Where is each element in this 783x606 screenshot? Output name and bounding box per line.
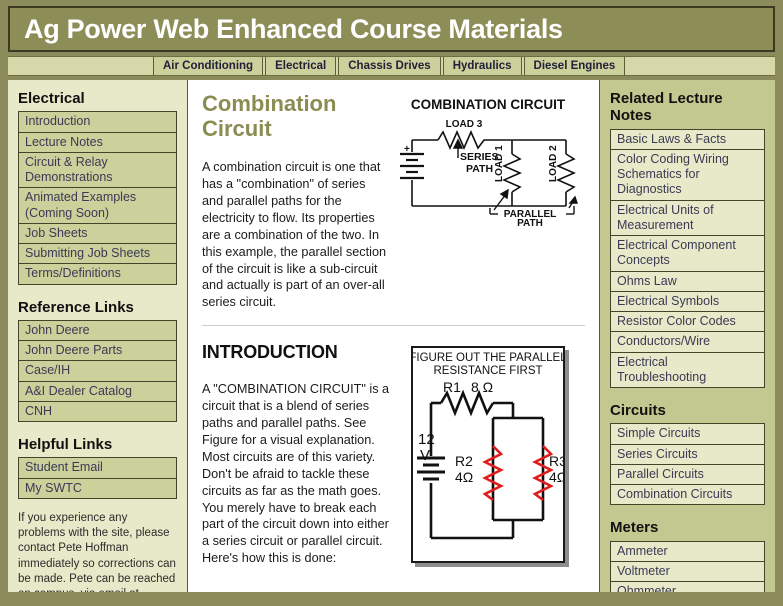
right-link-list-lecture-notes: Basic Laws & Facts Color Coding Wiring S… [610, 129, 765, 389]
sidebar-item-electrical-troubleshooting[interactable]: Electrical Troubleshooting [611, 353, 764, 388]
sidebar-item-cnh[interactable]: CNH [19, 402, 176, 421]
left-link-list-reference: John Deere John Deere Parts Case/IH A&I … [18, 320, 177, 422]
sidebar-item-introduction[interactable]: Introduction [19, 112, 176, 132]
figure2-source-line2: V [420, 447, 430, 464]
sidebar-item-combination-circuits[interactable]: Combination Circuits [611, 485, 764, 504]
nav-tab-chassis-drives[interactable]: Chassis Drives [338, 57, 440, 75]
page-columns: Electrical Introduction Lecture Notes Ci… [8, 80, 775, 592]
sidebar-item-simple-circuits[interactable]: Simple Circuits [611, 424, 764, 444]
combination-circuit-text: Combination Circuit A combination circui… [202, 90, 390, 311]
right-section-heading-related-lecture-notes: Related Lecture Notes [610, 90, 765, 125]
sidebar-item-basic-laws-facts[interactable]: Basic Laws & Facts [611, 130, 764, 150]
sidebar-item-resistor-color-codes[interactable]: Resistor Color Codes [611, 312, 764, 332]
nav-tab-diesel-engines[interactable]: Diesel Engines [524, 57, 626, 75]
figure1-battery-positive: + [404, 144, 410, 155]
main-navigation: Air Conditioning Electrical Chassis Driv… [8, 56, 775, 76]
figure1-label-load2: LOAD 2 [548, 145, 559, 182]
sidebar-item-john-deere-parts[interactable]: John Deere Parts [19, 341, 176, 361]
figure2-r3-name: R3 [549, 453, 563, 469]
contact-note-text-before: If you experience any problems with the … [18, 512, 176, 592]
figure2-caption-line1: FIGURE OUT THE PARALLEL [413, 352, 563, 364]
figure2-wrap: FIGURE OUT THE PARALLEL RESISTANCE FIRST… [390, 338, 585, 563]
right-link-list-meters: Ammeter Voltmeter Ohmmeter [610, 541, 765, 593]
nav-tab-electrical[interactable]: Electrical [265, 57, 336, 75]
figure2-r3-value: 4Ω [549, 469, 563, 485]
figure2-caption-line2: RESISTANCE FIRST [433, 365, 542, 377]
main-content: Combination Circuit A combination circui… [188, 80, 600, 592]
combination-circuit-paragraph: A combination circuit is one that has a … [202, 159, 390, 311]
nav-spacer-right [625, 57, 775, 75]
nav-spacer-left [8, 57, 153, 75]
figure2-source-line1: 12 [418, 431, 435, 448]
sidebar-item-electrical-component-concepts[interactable]: Electrical Component Concepts [611, 236, 764, 272]
sidebar-item-color-coding-wiring-schematics[interactable]: Color Coding Wiring Schematics for Diagn… [611, 150, 764, 201]
contact-note: If you experience any problems with the … [18, 511, 177, 592]
sidebar-item-voltmeter[interactable]: Voltmeter [611, 562, 764, 582]
sidebar-item-circuit-relay-demonstrations[interactable]: Circuit & Relay Demonstrations [19, 153, 176, 189]
sidebar-item-lecture-notes[interactable]: Lecture Notes [19, 133, 176, 153]
right-link-list-circuits: Simple Circuits Series Circuits Parallel… [610, 423, 765, 505]
figure1-label-series-2: PATH [466, 163, 493, 175]
figure1-title: COMBINATION CIRCUIT [410, 97, 565, 112]
introduction-text: INTRODUCTION A "COMBINATION CIRCUIT" is … [202, 338, 390, 567]
sidebar-item-case-ih[interactable]: Case/IH [19, 361, 176, 381]
right-section-heading-circuits: Circuits [610, 402, 765, 419]
sidebar-item-electrical-symbols[interactable]: Electrical Symbols [611, 292, 764, 312]
site-header: Ag Power Web Enhanced Course Materials [8, 6, 775, 52]
left-section-heading-reference-links: Reference Links [18, 299, 177, 316]
left-section-heading-helpful-links: Helpful Links [18, 436, 177, 453]
sidebar-item-electrical-units-of-measurement[interactable]: Electrical Units of Measurement [611, 201, 764, 237]
right-section-heading-meters: Meters [610, 519, 765, 536]
figure2-r2-name: R2 [455, 453, 473, 469]
figure1-label-series-1: SERIES [460, 151, 499, 163]
sidebar-item-ammeter[interactable]: Ammeter [611, 542, 764, 562]
sidebar-item-ohmmeter[interactable]: Ohmmeter [611, 582, 764, 592]
parallel-resistance-figure: FIGURE OUT THE PARALLEL RESISTANCE FIRST… [411, 346, 565, 563]
left-link-list-electrical: Introduction Lecture Notes Circuit & Rel… [18, 111, 177, 284]
right-sidebar: Related Lecture Notes Basic Laws & Facts… [600, 80, 775, 592]
left-section-heading-electrical: Electrical [18, 90, 177, 107]
figure2-r1-name: R1 [443, 379, 461, 395]
parallel-resistance-diagram: FIGURE OUT THE PARALLEL RESISTANCE FIRST… [413, 348, 563, 558]
left-sidebar: Electrical Introduction Lecture Notes Ci… [8, 80, 188, 592]
sidebar-item-animated-examples[interactable]: Animated Examples (Coming Soon) [19, 188, 176, 224]
figure1-label-load3: LOAD 3 [445, 119, 482, 130]
figure2-r1-value: 8 Ω [471, 379, 493, 395]
sidebar-item-submitting-job-sheets[interactable]: Submitting Job Sheets [19, 244, 176, 264]
sidebar-item-my-swtc[interactable]: My SWTC [19, 479, 176, 498]
page-title: Ag Power Web Enhanced Course Materials [10, 14, 563, 45]
sidebar-item-series-circuits[interactable]: Series Circuits [611, 445, 764, 465]
left-link-list-helpful: Student Email My SWTC [18, 457, 177, 499]
sidebar-item-conductors-wire[interactable]: Conductors/Wire [611, 332, 764, 352]
sidebar-item-parallel-circuits[interactable]: Parallel Circuits [611, 465, 764, 485]
sidebar-item-student-email[interactable]: Student Email [19, 458, 176, 478]
sidebar-item-john-deere[interactable]: John Deere [19, 321, 176, 341]
nav-tab-air-conditioning[interactable]: Air Conditioning [153, 57, 263, 75]
combination-circuit-diagram: COMBINATION CIRCUIT LOAD 3 [398, 96, 578, 226]
introduction-heading: INTRODUCTION [202, 342, 390, 363]
sidebar-item-terms-definitions[interactable]: Terms/Definitions [19, 264, 176, 283]
introduction-section: INTRODUCTION A "COMBINATION CIRCUIT" is … [202, 338, 585, 567]
nav-tab-hydraulics[interactable]: Hydraulics [443, 57, 522, 75]
sidebar-item-ai-dealer-catalog[interactable]: A&I Dealer Catalog [19, 382, 176, 402]
figure1-label-parallel-2: PATH [517, 218, 543, 226]
combination-circuit-section: Combination Circuit A combination circui… [202, 90, 585, 311]
content-title: Combination Circuit [202, 92, 372, 141]
sidebar-item-ohms-law[interactable]: Ohms Law [611, 272, 764, 292]
figure2-r2-value: 4Ω [455, 469, 473, 485]
figure1-wrap: COMBINATION CIRCUIT LOAD 3 [390, 90, 585, 226]
sidebar-item-job-sheets[interactable]: Job Sheets [19, 224, 176, 244]
content-divider [202, 325, 585, 326]
introduction-paragraph: A "COMBINATION CIRCUIT" is a circuit tha… [202, 381, 390, 567]
figure1-label-load1: LOAD 1 [494, 145, 505, 182]
